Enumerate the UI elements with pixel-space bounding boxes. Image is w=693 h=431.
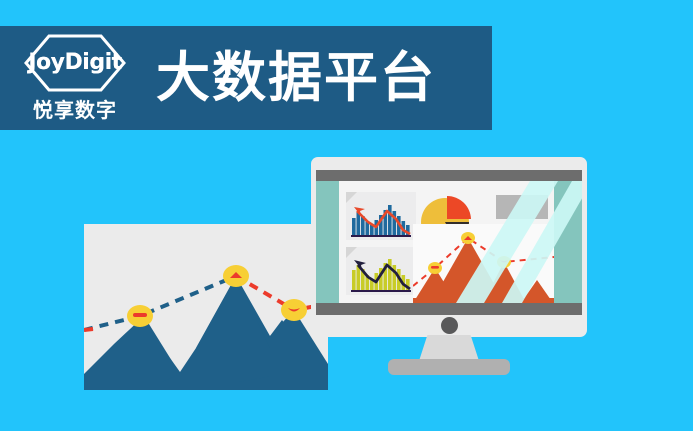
desktop-monitor — [311, 157, 587, 337]
header-banner: JoyDigit 悦享数字 大数据平台 — [0, 26, 492, 130]
logo-wordmark: JoyDigit — [28, 50, 121, 75]
screen-right-accent — [554, 181, 582, 303]
poster-canvas: JoyDigit 悦享数字 大数据平台 — [0, 0, 693, 431]
monitor-screen — [316, 181, 582, 303]
bar-chart-olive-card[interactable] — [346, 247, 416, 295]
axis-line — [351, 290, 411, 292]
pie-slice-b — [447, 196, 471, 219]
bar-chart-blue-card[interactable] — [346, 192, 416, 240]
screen-left-accent — [316, 181, 339, 303]
brand-logo: JoyDigit 悦享数字 — [14, 32, 136, 124]
webcam-icon — [441, 317, 458, 334]
mountain-area-chart-screen[interactable] — [413, 224, 554, 303]
logo-subtitle: 悦享数字 — [33, 94, 117, 123]
image-placeholder — [496, 195, 548, 219]
page-title: 大数据平台 — [156, 51, 436, 105]
monitor-top-bar — [316, 170, 582, 181]
hexagon-icon: JoyDigit — [23, 34, 127, 92]
monitor-stand-neck — [419, 335, 479, 361]
monitor-bottom-bar — [316, 303, 582, 315]
mountain-trend-panel — [84, 224, 328, 390]
monitor-stand-base — [388, 359, 510, 375]
axis-line — [351, 235, 411, 237]
